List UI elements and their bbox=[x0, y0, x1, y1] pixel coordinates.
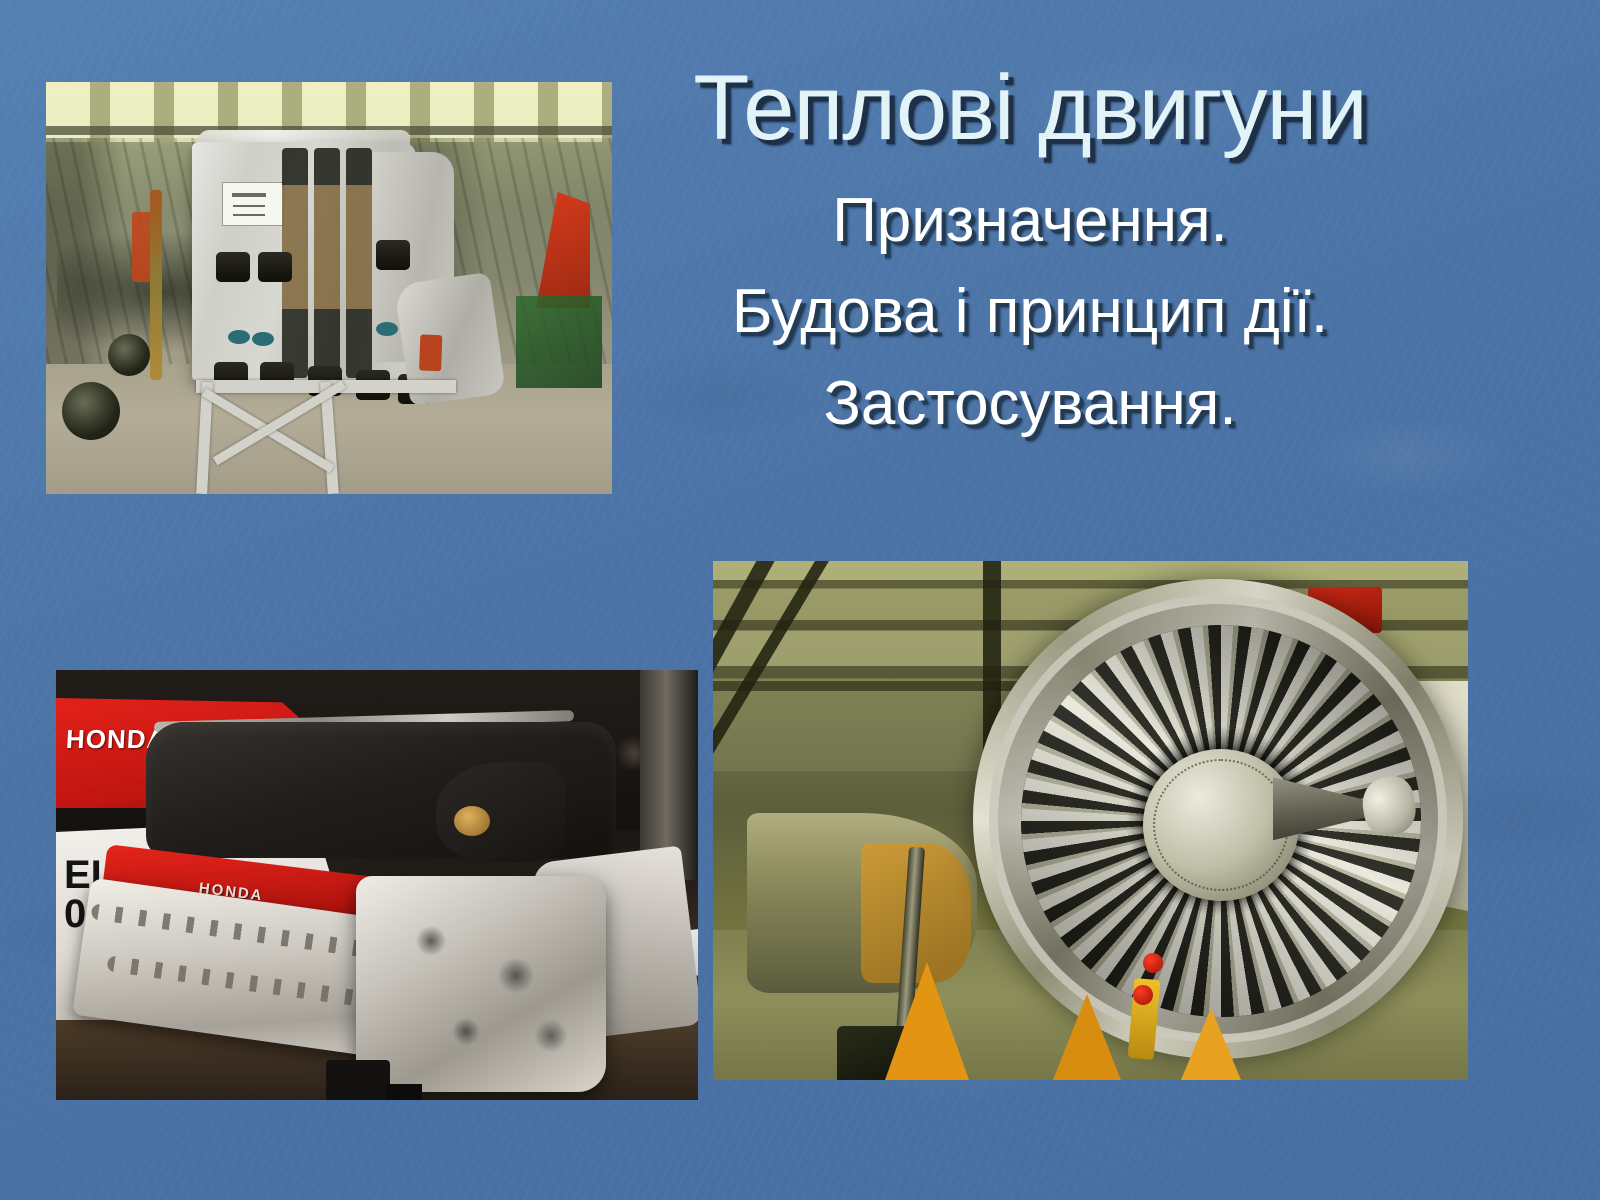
red-warning-marker bbox=[1133, 985, 1153, 1005]
orange-jack-stand bbox=[1181, 1008, 1241, 1080]
lifting-chain bbox=[150, 190, 162, 380]
engine-block-front bbox=[356, 876, 606, 1092]
exhaust-manifold bbox=[436, 762, 566, 862]
engine-plug bbox=[376, 322, 398, 336]
engine-display-stand bbox=[326, 1060, 390, 1100]
subtitle-line-3: Застосування. bbox=[630, 361, 1430, 447]
cylinder-bolt-column bbox=[314, 148, 340, 378]
green-machinery bbox=[516, 296, 602, 388]
page-title: Теплові двигуни bbox=[630, 62, 1430, 156]
photo-engine-block bbox=[46, 82, 612, 494]
cylinder-bolt-column bbox=[346, 148, 372, 378]
trolley-wheel bbox=[62, 382, 120, 440]
honda-f1-scene: HONDA EI0 bbox=[56, 670, 698, 1100]
slide-text-block: Теплові двигуни Призначення. Будова і пр… bbox=[630, 62, 1430, 446]
engine-port bbox=[258, 252, 292, 282]
subtitle-line-2: Будова і принцип дії. bbox=[630, 269, 1430, 355]
photo-jet-turbine bbox=[713, 561, 1468, 1080]
photo-honda-f1-engine: HONDA EI0 bbox=[56, 670, 698, 1100]
jet-turbine-scene bbox=[713, 561, 1468, 1080]
engine-block-scene bbox=[46, 82, 612, 494]
orange-jack-stand bbox=[885, 962, 969, 1080]
engine-spec-label bbox=[222, 182, 284, 226]
engine-plug bbox=[252, 332, 274, 346]
trolley-wheel bbox=[108, 334, 150, 376]
engine-port bbox=[376, 240, 410, 270]
engine-port bbox=[216, 252, 250, 282]
orange-jack-stand bbox=[1053, 994, 1121, 1080]
gold-fitting bbox=[454, 806, 490, 836]
engine-plug bbox=[228, 330, 250, 344]
engine-display-pole bbox=[386, 1084, 422, 1100]
red-warning-marker bbox=[1143, 953, 1163, 973]
subtitle-line-1: Призначення. bbox=[630, 178, 1430, 264]
